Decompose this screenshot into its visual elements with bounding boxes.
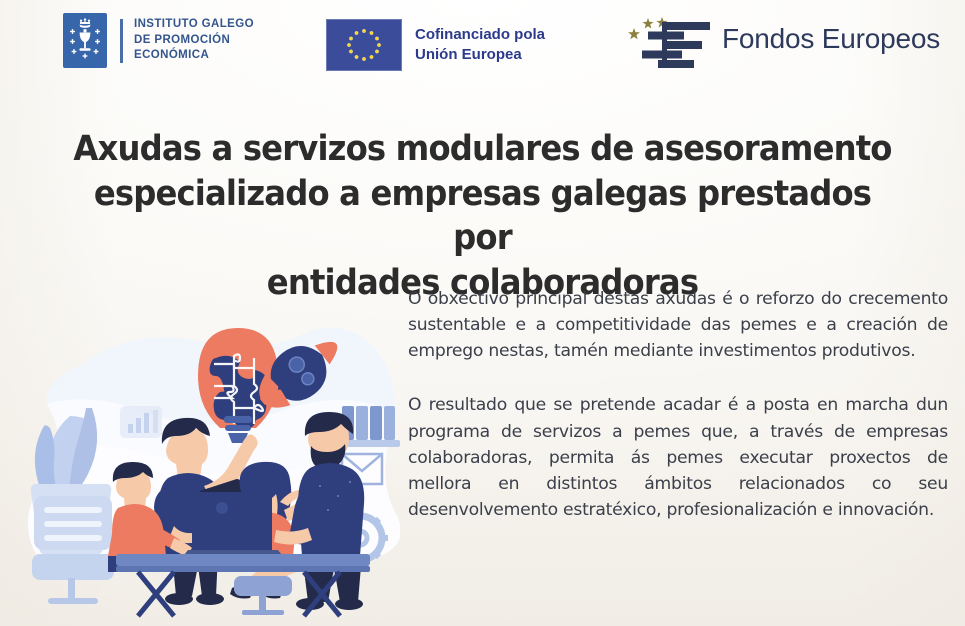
- fondos-europeos-stairs-icon: [618, 8, 714, 70]
- logo-divider: [120, 19, 123, 63]
- paragraph-objective: O obxectivo principal destas axudas é o …: [408, 286, 948, 364]
- european-union-flag-icon: [326, 19, 402, 71]
- igape-line-2: DE PROMOCIÓN: [134, 33, 254, 48]
- galicia-coat-of-arms-icon: [63, 13, 107, 68]
- logo-fondos-europeos: Fondos Europeos: [618, 8, 940, 70]
- logo-european-union: Cofinanciado pola Unión Europea: [326, 19, 545, 71]
- logo-bar: INSTITUTO GALEGO DE PROMOCIÓN ECONÓMICA …: [0, 0, 965, 90]
- office-chair-right-icon: [234, 576, 292, 615]
- igape-line-3: ECONÓMICA: [134, 48, 254, 63]
- title-line-2: especializado a empresas galegas prestad…: [94, 174, 871, 259]
- bar-chart-poster-icon: [120, 406, 162, 438]
- logo-eu-text: Cofinanciado pola Unión Europea: [415, 25, 545, 66]
- laptop-icon: [180, 492, 286, 560]
- logo-igape-text: INSTITUTO GALEGO DE PROMOCIÓN ECONÓMICA: [134, 17, 254, 63]
- body-copy: O obxectivo principal destas axudas é o …: [408, 286, 948, 523]
- paragraph-result: O resultado que se pretende acadar é a p…: [408, 392, 948, 523]
- eu-line-1: Cofinanciado pola: [415, 25, 545, 45]
- logo-igape: INSTITUTO GALEGO DE PROMOCIÓN ECONÓMICA: [63, 13, 254, 68]
- office-chair-icon: [32, 496, 114, 604]
- title-line-1: Axudas a servizos modulares de asesorame…: [73, 129, 891, 169]
- eu-line-2: Unión Europea: [415, 45, 545, 65]
- logo-fondos-label: Fondos Europeos: [722, 23, 940, 55]
- igape-line-1: INSTITUTO GALEGO: [134, 17, 254, 32]
- page-title: Axudas a servizos modulares de asesorame…: [64, 127, 901, 305]
- team-collaboration-illustration: [8, 296, 400, 618]
